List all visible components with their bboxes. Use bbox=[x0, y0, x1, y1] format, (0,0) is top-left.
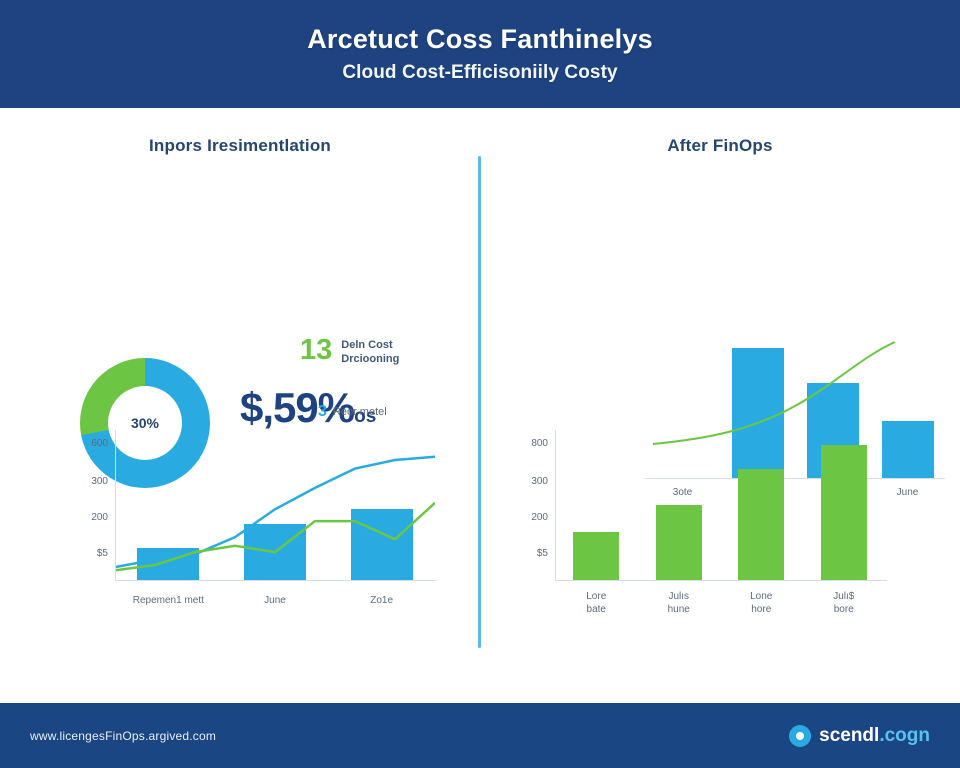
page-footer: www.licengesFinOps.argived.com scendl.co… bbox=[0, 700, 960, 768]
bar bbox=[738, 469, 784, 580]
combo-annotation-text: Reor metel bbox=[333, 406, 387, 418]
green-y-axis-line bbox=[555, 430, 556, 580]
green-plot-area bbox=[555, 430, 885, 580]
trend-lines bbox=[115, 430, 435, 580]
combo-x-axis-line bbox=[115, 580, 437, 581]
right-panel-title: After FinOps bbox=[480, 136, 960, 156]
x-axis-tick: Julı$ bore bbox=[803, 590, 886, 616]
infographic-page: Arcetuct Coss Fanthinelys Cloud Cost-Eff… bbox=[0, 0, 960, 768]
left-panel-title: Inpors Iresimentlation bbox=[0, 136, 480, 156]
y-axis-tick: 200 bbox=[531, 512, 548, 523]
combo-chart-before: 3 Reor metel 600300200$5 Repemen1 mettJu… bbox=[60, 408, 460, 628]
kpi-before: 13 Deln Cost Drciooning bbox=[300, 336, 399, 367]
x-axis-tick: Lone hore bbox=[720, 590, 803, 616]
y-axis-tick: $5 bbox=[97, 548, 108, 559]
x-axis-tick: Zo1e bbox=[328, 594, 435, 607]
line-series bbox=[115, 503, 435, 571]
combo-plot-area bbox=[115, 430, 435, 580]
brand-name-tld: .cogn bbox=[879, 725, 930, 746]
y-axis-tick: 300 bbox=[91, 476, 108, 487]
combo-y-axis: 600300200$5 bbox=[60, 408, 108, 588]
combo-chart-annotation: 3 Reor metel bbox=[318, 403, 387, 421]
content-area: Inpors Iresimentlation 30% 13 Deln Cost … bbox=[0, 108, 960, 700]
bar bbox=[573, 532, 619, 580]
x-axis-tick: Repemen1 mett bbox=[115, 594, 222, 607]
combo-annotation-number: 3 bbox=[318, 403, 327, 421]
footer-url[interactable]: www.licengesFinOps.argived.com bbox=[30, 729, 216, 743]
y-axis-tick: 200 bbox=[91, 512, 108, 523]
y-axis-tick: 600 bbox=[91, 438, 108, 449]
kpi-number-before: 13 bbox=[300, 336, 332, 365]
bar bbox=[656, 505, 702, 580]
brand-name-main: scendl bbox=[819, 725, 879, 746]
page-title: Arcetuct Coss Fanthinelys bbox=[307, 24, 653, 55]
circle-dot-icon bbox=[789, 725, 811, 747]
y-axis-tick: 800 bbox=[531, 438, 548, 449]
right-panel: After FinOps ROI% 3 Optimizading Ctflect… bbox=[480, 108, 960, 700]
brand-logo: scendl.cogn bbox=[789, 725, 930, 747]
green-y-axis: 800300200$5 bbox=[500, 408, 548, 588]
green-x-axis-line bbox=[555, 580, 887, 581]
bar bbox=[821, 445, 867, 580]
y-axis-tick: 300 bbox=[531, 476, 548, 487]
x-axis-tick: Julıs hune bbox=[638, 590, 721, 616]
kpi-caption-before: Deln Cost Drciooning bbox=[341, 336, 399, 367]
after-green-bar-chart: 800300200$5 Lore bateJulıs huneLone hore… bbox=[500, 408, 920, 628]
x-axis-tick: June bbox=[222, 594, 329, 607]
left-panel: Inpors Iresimentlation 30% 13 Deln Cost … bbox=[0, 108, 480, 700]
combo-y-axis-line bbox=[115, 430, 116, 580]
page-subtitle: Cloud Cost-Efficisoniily Costy bbox=[342, 62, 617, 84]
brand-name: scendl.cogn bbox=[819, 725, 930, 747]
page-header: Arcetuct Coss Fanthinelys Cloud Cost-Eff… bbox=[0, 0, 960, 108]
x-axis-tick: Lore bate bbox=[555, 590, 638, 616]
y-axis-tick: $5 bbox=[537, 548, 548, 559]
